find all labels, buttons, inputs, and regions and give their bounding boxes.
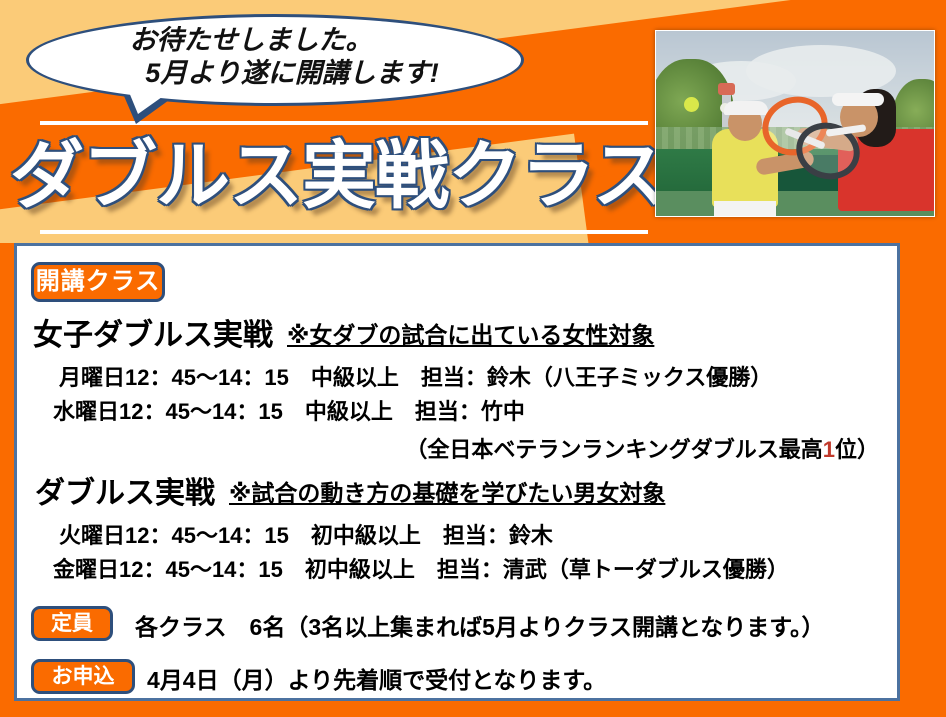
section-2-subtitle: ※試合の動き方の基礎を学びたい男女対象 bbox=[229, 480, 665, 506]
tennis-photo bbox=[655, 30, 935, 217]
badge-application: お申込 bbox=[31, 659, 135, 694]
poster-root: ダブルス実戦クラス お待たせしました。 5月より遂に開講します! bbox=[0, 0, 946, 717]
photo-player-yellow-cap bbox=[724, 101, 768, 115]
badge-capacity: 定員 bbox=[31, 606, 113, 641]
content-card: 開講クラス 女子ダブルス実戦※女ダブの試合に出ている女性対象 月曜日12：45〜… bbox=[14, 243, 900, 701]
section-2-heading: ダブルス実戦※試合の動き方の基礎を学びたい男女対象 bbox=[35, 468, 665, 512]
capacity-text: 各クラス 6名（3名以上集まれば5月よりクラス開講となります。） bbox=[135, 608, 825, 642]
section-1-schedule-row: 水曜日12：45〜14：15 中級以上 担当：竹中 bbox=[53, 394, 525, 426]
photo-player-red-visor bbox=[832, 93, 884, 106]
photo-tennis-ball bbox=[684, 97, 699, 112]
section-1-schedule-row: 月曜日12：45〜14：15 中級以上 担当：鈴木（八王子ミックス優勝） bbox=[59, 360, 772, 392]
speech-bubble-line-2: 5月より遂に開講します! bbox=[145, 57, 438, 90]
speech-bubble-text: お待たせしました。 5月より遂に開講します! bbox=[26, 14, 518, 100]
application-text: 4月4日（月）より先着順で受付となります。 bbox=[147, 661, 606, 695]
section-1-heading: 女子ダブルス実戦※女ダブの試合に出ている女性対象 bbox=[33, 310, 654, 354]
photo-player-yellow-shorts bbox=[714, 201, 776, 216]
poster-title-wrap: ダブルス実戦クラス bbox=[10, 126, 656, 226]
section-1-title: 女子ダブルス実戦 bbox=[33, 319, 273, 352]
ranking-note-post: 位） bbox=[835, 437, 879, 462]
section-1-ranking-note: （全日本ベテランランキングダブルス最高1位） bbox=[405, 432, 879, 464]
section-2-title: ダブルス実戦 bbox=[35, 477, 215, 510]
speech-bubble-line-1: お待たせしました。 bbox=[130, 24, 373, 57]
ranking-note-rank: 1 bbox=[823, 437, 835, 462]
section-2-schedule-row: 金曜日12：45〜14：15 初中級以上 担当：清武（草トーダブルス優勝） bbox=[53, 552, 789, 584]
photo-tower-top bbox=[718, 83, 735, 95]
section-2-schedule-row: 火曜日12：45〜14：15 初中級以上 担当：鈴木 bbox=[59, 518, 553, 550]
badge-open-classes: 開講クラス bbox=[31, 262, 165, 302]
page-title: ダブルス実戦クラス bbox=[10, 126, 656, 226]
title-rule-bottom bbox=[40, 230, 648, 234]
ranking-note-pre: （全日本ベテランランキングダブルス最高 bbox=[405, 437, 822, 462]
section-1-subtitle: ※女ダブの試合に出ている女性対象 bbox=[287, 322, 654, 348]
